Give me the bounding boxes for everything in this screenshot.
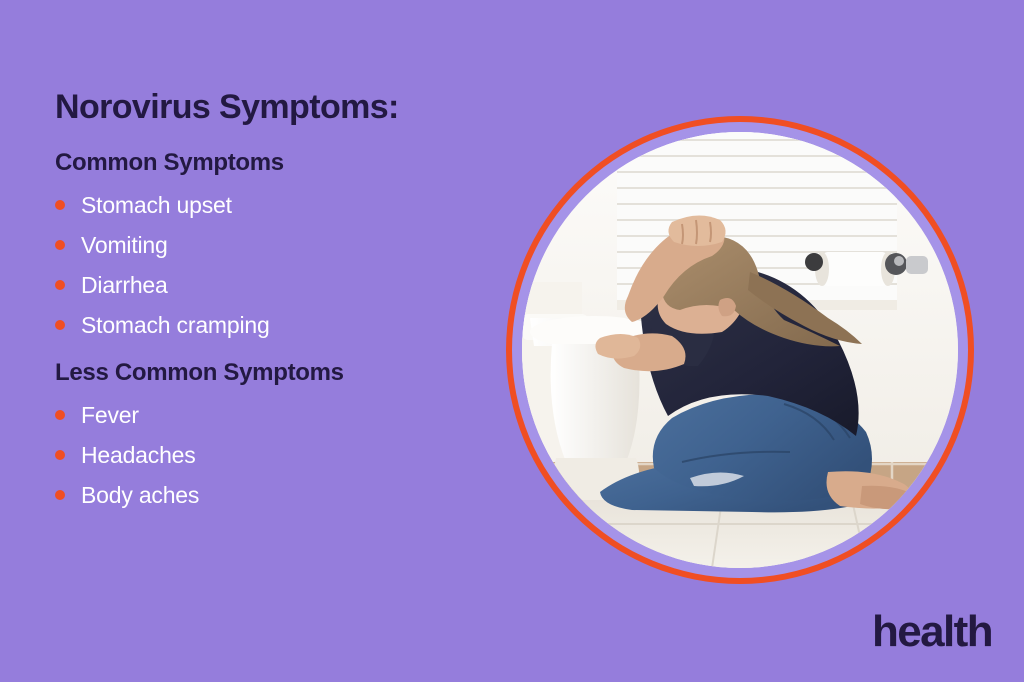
brand-logo: health: [872, 610, 992, 654]
symptom-group-common: Common Symptoms Stomach upset Vomiting D…: [55, 149, 495, 337]
list-item: Vomiting: [55, 234, 495, 257]
bullet-dot-icon: [55, 450, 65, 460]
bullet-dot-icon: [55, 240, 65, 250]
symptom-list-less-common: Fever Headaches Body aches: [55, 404, 495, 507]
symptom-group-less-common: Less Common Symptoms Fever Headaches Bod…: [55, 359, 495, 507]
symptom-label: Headaches: [81, 444, 196, 467]
list-item: Fever: [55, 404, 495, 427]
section-header-common: Common Symptoms: [55, 149, 495, 178]
bullet-dot-icon: [55, 490, 65, 500]
symptom-list-common: Stomach upset Vomiting Diarrhea Stomach …: [55, 194, 495, 337]
bullet-dot-icon: [55, 320, 65, 330]
bullet-dot-icon: [55, 410, 65, 420]
bullet-dot-icon: [55, 280, 65, 290]
norovirus-symptoms-infographic: Norovirus Symptoms: Common Symptoms Stom…: [0, 0, 1024, 682]
photo-ring-outer: [506, 116, 974, 584]
list-item: Headaches: [55, 444, 495, 467]
photo-ring-inner: [512, 122, 968, 578]
text-panel: Norovirus Symptoms: Common Symptoms Stom…: [55, 88, 495, 529]
symptom-label: Diarrhea: [81, 274, 168, 297]
bathroom-photo-illustration: [522, 132, 958, 568]
symptom-label: Stomach cramping: [81, 314, 270, 337]
bullet-dot-icon: [55, 200, 65, 210]
section-header-less-common: Less Common Symptoms: [55, 359, 495, 388]
symptom-label: Body aches: [81, 484, 199, 507]
list-item: Stomach cramping: [55, 314, 495, 337]
symptom-label: Fever: [81, 404, 139, 427]
page-title: Norovirus Symptoms:: [55, 88, 495, 127]
photo-circle: [522, 132, 958, 568]
list-item: Body aches: [55, 484, 495, 507]
list-item: Diarrhea: [55, 274, 495, 297]
symptom-label: Stomach upset: [81, 194, 232, 217]
symptom-label: Vomiting: [81, 234, 168, 257]
list-item: Stomach upset: [55, 194, 495, 217]
